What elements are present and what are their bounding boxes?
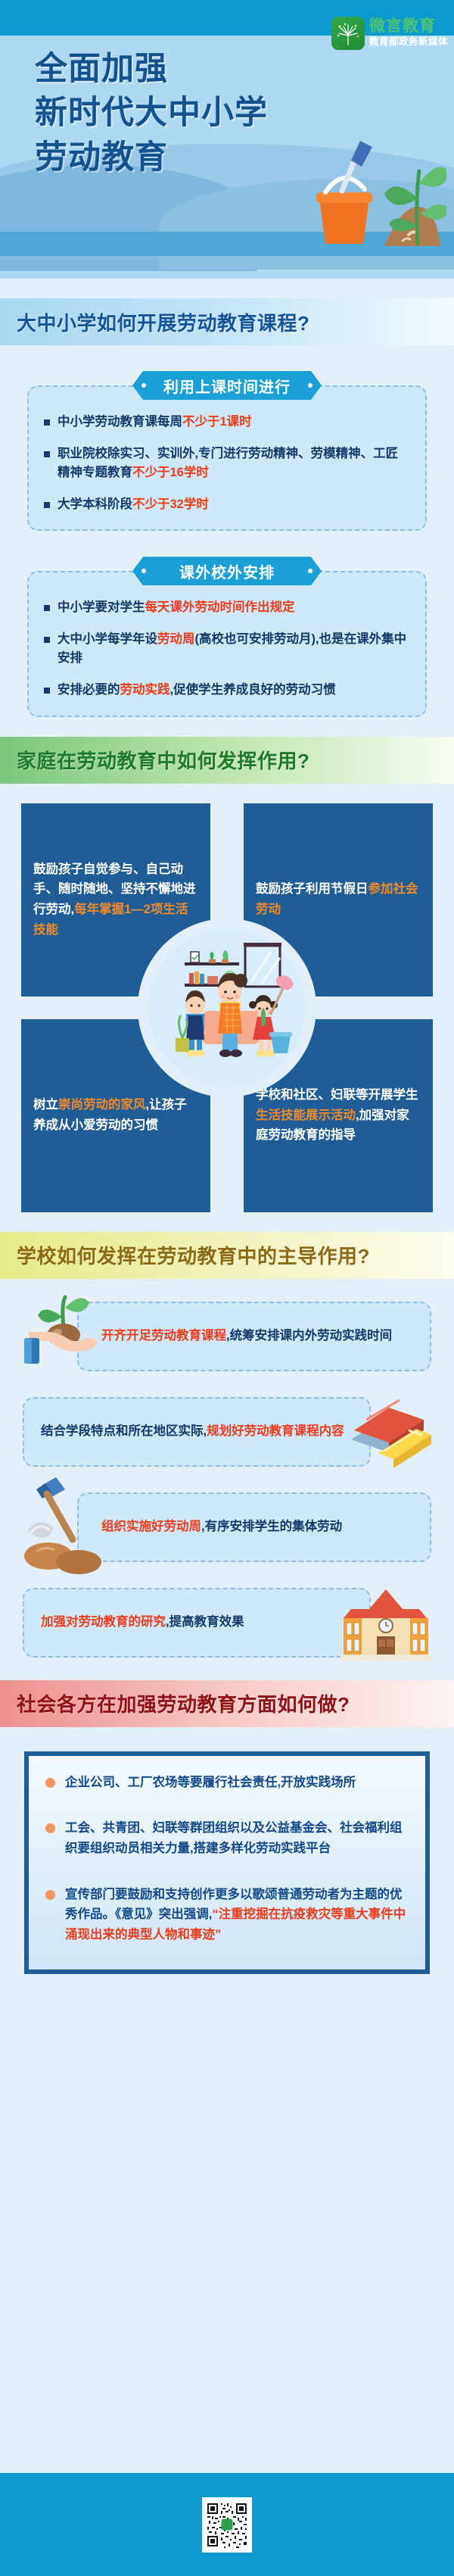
- body-text: 中小学劳动教育课每周: [58, 415, 182, 429]
- section-banner-school: 学校如何发挥在劳动教育中的主导作用?: [0, 1232, 454, 1279]
- society-box: 企业公司、工厂农场等要履行社会责任,开放实践场所 工会、共青团、妇联等群团组织以…: [24, 1751, 430, 1974]
- bullet-item: 大中小学每学年设劳动周(高校也可安排劳动月),也是在课外集中安排: [44, 630, 410, 669]
- page-header: 微言教育 教育部政务新媒体 全面加强 新时代大中小学 劳动教育: [0, 0, 454, 279]
- qr-code-icon[interactable]: [202, 2497, 252, 2553]
- highlight-text: 开齐开足劳动教育课程: [101, 1329, 226, 1343]
- card-ribbon: 利用上课时间进行: [132, 371, 322, 400]
- highlight-text: 每天课外劳动时间作出规定: [145, 600, 295, 614]
- school-item-research: 加强对劳动教育的研究,提高教育效果: [23, 1588, 431, 1661]
- body-text: 树立: [33, 1098, 58, 1112]
- bullet-item: 大学本科阶段不少于32学时: [44, 495, 410, 515]
- page-footer: [0, 2473, 454, 2576]
- sprout-bucket-illustration: [295, 114, 446, 257]
- school-building-icon: [334, 1579, 436, 1670]
- highlight-text: 组织实施好劳动周: [101, 1520, 201, 1533]
- school-card-text: 结合学段特点和所在地区实际,规划好劳动教育课程内容: [41, 1421, 344, 1441]
- highlight-text: 劳动实践: [120, 683, 170, 697]
- bullet-item: 安排必要的劳动实践,促使学生养成良好的劳动习惯: [44, 681, 410, 700]
- highlight-text: 规划好劳动教育课程内容: [207, 1424, 344, 1438]
- highlight-text: 不少于32学时: [132, 497, 209, 511]
- logo-main-text: 微言教育: [369, 18, 448, 35]
- dandelion-icon: [331, 17, 365, 50]
- body-text: 结合学段特点和所在地区实际,: [41, 1424, 207, 1438]
- card-outside-class: 课外校外安排 中小学要对学生每天课外劳动时间作出规定 大中小学每学年设劳动周(高…: [27, 557, 427, 716]
- card-class-time: 利用上课时间进行 中小学劳动教育课每周不少于1课时 职业院校除实习、实训外,专门…: [27, 371, 427, 531]
- page-title: 全面加强 新时代大中小学 劳动教育: [35, 47, 268, 179]
- ribbon-dot-left: [141, 383, 146, 388]
- school-card-text: 加强对劳动教育的研究,提高教育效果: [41, 1612, 244, 1632]
- body-text: 企业公司、工厂农场等要履行社会责任,开放实践场所: [65, 1776, 356, 1789]
- hammer-shovel-icon: [14, 1468, 112, 1578]
- body-text: ,提高教育效果: [166, 1615, 244, 1629]
- section-banner-family: 家庭在劳动教育中如何发挥作用?: [0, 737, 454, 784]
- qr-center-logo: [222, 2519, 233, 2531]
- body-text: 安排必要的: [58, 683, 120, 697]
- card-body: 中小学要对学生每天课外劳动时间作出规定 大中小学每学年设劳动周(高校也可安排劳动…: [27, 571, 427, 716]
- body-text: ,统筹安排课内外劳动实践时间: [226, 1329, 392, 1343]
- section-title: 社会各方在加强劳动教育方面如何做?: [17, 1689, 350, 1717]
- bullet-item: 中小学劳动教育课每周不少于1课时: [44, 413, 410, 432]
- school-card: 组织实施好劳动周,有序安排学生的集体劳动: [77, 1492, 431, 1562]
- school-card-text: 组织实施好劳动周,有序安排学生的集体劳动: [101, 1517, 342, 1536]
- school-item-planning: 结合学段特点和所在地区实际,规划好劳动教育课程内容: [23, 1397, 431, 1470]
- title-line-3: 劳动教育: [35, 136, 268, 179]
- title-line-1: 全面加强: [35, 47, 268, 91]
- ribbon-dot-right: [308, 569, 313, 573]
- school-item-labor-week: 组织实施好劳动周,有序安排学生的集体劳动: [23, 1492, 431, 1565]
- school-card: 结合学段特点和所在地区实际,规划好劳动教育课程内容: [23, 1397, 371, 1467]
- body-text: 鼓励孩子利用节假日: [256, 882, 368, 896]
- card-ribbon-label: 课外校外安排: [179, 560, 275, 582]
- body-text: 大学本科阶段: [58, 497, 132, 511]
- body-text: 职业院校除实习、实训外,专门进行劳动精神、劳模精神、工匠精神专题教育: [58, 447, 398, 480]
- section-title: 学校如何发挥在劳动教育中的主导作用?: [17, 1241, 370, 1269]
- section-title: 家庭在劳动教育中如何发挥作用?: [17, 746, 309, 774]
- family-box-text: 鼓励孩子自觉参与、自己动手、随时随地、坚持不懈地进行劳动,每年掌握1—2项生活技…: [33, 859, 198, 940]
- body-text: ,有序安排学生的集体劳动: [201, 1520, 342, 1533]
- section-title: 大中小学如何开展劳动教育课程?: [17, 308, 309, 336]
- qr-code-pattern: [205, 2500, 249, 2549]
- brand-logo: 微言教育 教育部政务新媒体: [331, 17, 448, 50]
- family-box-text: 鼓励孩子利用节假日参加社会劳动: [256, 879, 421, 919]
- ribbon-dot-left: [141, 569, 146, 573]
- highlight-text: 不少于1课时: [182, 415, 252, 429]
- highlight-text: 不少于16学时: [132, 466, 209, 479]
- section-banner-courses: 大中小学如何开展劳动教育课程?: [0, 298, 454, 345]
- family-grid: 鼓励孩子自觉参与、自己动手、随时随地、坚持不懈地进行劳动,每年掌握1—2项生活技…: [21, 803, 433, 1212]
- school-item-courses: 开齐开足劳动教育课程,统筹安排课内外劳动实践时间: [23, 1302, 431, 1374]
- family-box-text: 学校和社区、妇联等开展学生生活技能展示活动,加强对家庭劳动教育的指导: [256, 1085, 421, 1146]
- society-item: 企业公司、工厂农场等要履行社会责任,开放实践场所: [44, 1773, 410, 1793]
- card-ribbon: 课外校外安排: [132, 557, 322, 585]
- hand-sprout-icon: [18, 1285, 106, 1377]
- card-ribbon-label: 利用上课时间进行: [163, 375, 291, 397]
- card-body: 中小学劳动教育课每周不少于1课时 职业院校除实习、实训外,专门进行劳动精神、劳模…: [27, 385, 427, 531]
- highlight-text: 加强对劳动教育的研究: [41, 1615, 166, 1629]
- highlight-text: 生活技能展示活动: [256, 1109, 356, 1122]
- bullet-item: 职业院校除实习、实训外,专门进行劳动精神、劳模精神、工匠精神专题教育不少于16学…: [44, 444, 410, 483]
- title-line-2: 新时代大中小学: [35, 91, 268, 135]
- family-cleaning-icon: [148, 929, 306, 1087]
- logo-sub-text: 教育部政务新媒体: [369, 35, 448, 49]
- body-text: 中小学要对学生: [58, 600, 145, 614]
- body-text: ,促使学生养成良好的劳动习惯: [170, 683, 336, 697]
- section-banner-society: 社会各方在加强劳动教育方面如何做?: [0, 1680, 454, 1727]
- body-text: 学校和社区、妇联等开展学生: [256, 1088, 418, 1102]
- society-item: 宣传部门要鼓励和支持创作更多以歌颂普通劳动者为主题的优秀作品。《意见》突出强调,…: [44, 1885, 410, 1945]
- school-card-text: 开齐开足劳动教育课程,统筹安排课内外劳动实践时间: [101, 1326, 392, 1346]
- body-text: 工会、共青团、妇联等群团组织以及公益基金会、社会福利组织要组织动员相关力量,搭建…: [65, 1821, 403, 1855]
- body-text: 大中小学每学年设: [58, 632, 157, 646]
- family-box-text: 树立崇尚劳动的家风,让孩子养成从小爱劳动的习惯: [33, 1095, 198, 1135]
- bullet-item: 中小学要对学生每天课外劳动时间作出规定: [44, 598, 410, 618]
- highlight-text: 劳动周: [157, 632, 195, 646]
- society-item: 工会、共青团、妇联等群团组织以及公益基金会、社会福利组织要组织动员相关力量,搭建…: [44, 1818, 410, 1858]
- school-card: 加强对劳动教育的研究,提高教育效果: [23, 1588, 371, 1658]
- ribbon-dot-right: [308, 383, 313, 388]
- highlight-text: 崇尚劳动的家风: [58, 1098, 146, 1112]
- school-card: 开齐开足劳动教育课程,统筹安排课内外劳动实践时间: [77, 1302, 431, 1371]
- books-icon: [339, 1385, 437, 1474]
